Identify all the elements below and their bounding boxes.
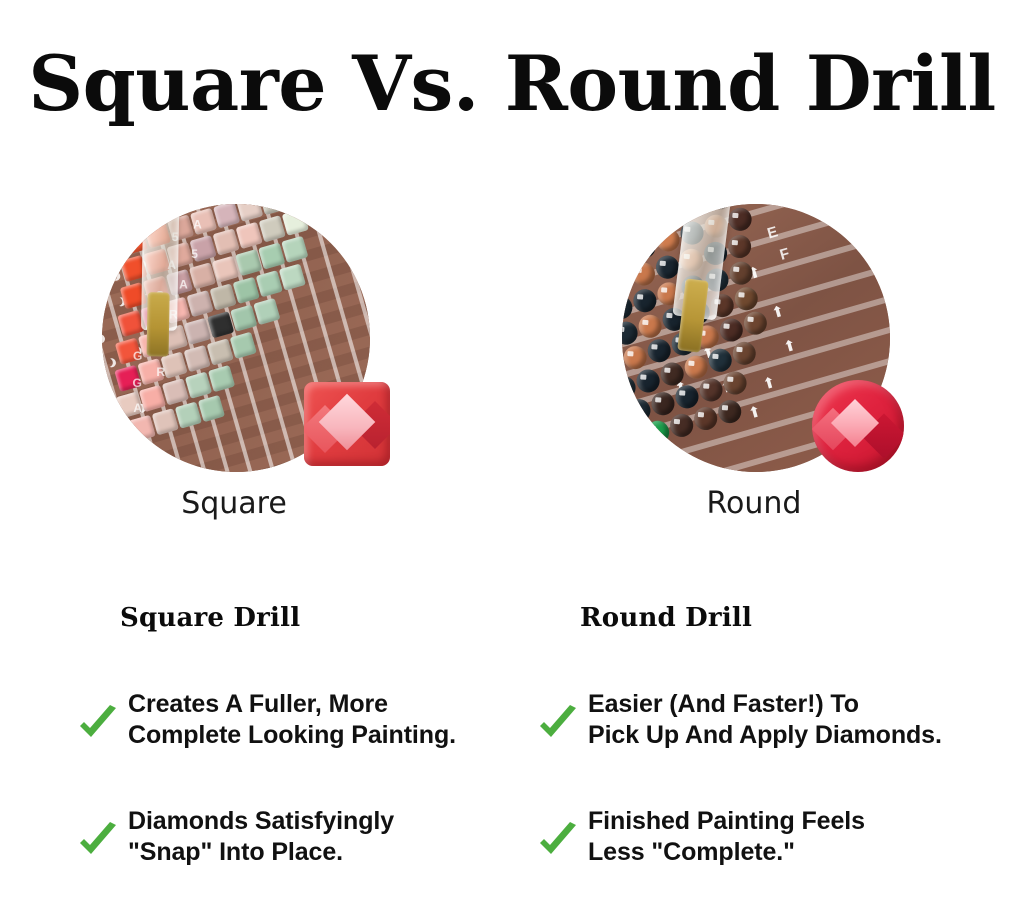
list-item: Easier (And Faster!) To Pick Up And Appl… <box>580 689 1020 752</box>
list-item: Diamonds Satisfyingly "Snap" Into Place. <box>120 806 560 869</box>
square-drill-heading: Square Drill <box>120 604 560 633</box>
round-drill-bullet-list: Easier (And Faster!) To Pick Up And Appl… <box>580 689 1020 869</box>
square-drill-photo-block: 5 A A 5 G A A R G A G R A <box>96 196 426 486</box>
square-drill-bullet-list: Creates A Fuller, More Complete Looking … <box>120 689 560 869</box>
list-item-label: Finished Painting Feels Less "Complete." <box>588 806 865 869</box>
check-icon <box>76 819 120 863</box>
list-item-label: Easier (And Faster!) To Pick Up And Appl… <box>588 689 942 752</box>
page-title: Square Vs. Round Drill <box>0 46 1024 122</box>
list-item-label: Diamonds Satisfyingly "Snap" Into Place. <box>128 806 394 869</box>
round-photo-caption: Round <box>614 486 894 522</box>
square-drill-gem <box>304 382 390 466</box>
check-icon <box>536 819 580 863</box>
round-drill-photo-block: ⬆ ⬆ ⬆ ⬆ ⬆ ⬆ ⬆ ⬆ ⬆ ⬆ ⬆ ⬆ ⬆ ⬆ E F <box>616 196 946 486</box>
list-item: Finished Painting Feels Less "Complete." <box>580 806 1020 869</box>
check-icon <box>536 702 580 746</box>
check-icon <box>76 702 120 746</box>
square-photo-caption: Square <box>94 486 374 522</box>
round-drill-gem <box>812 380 904 472</box>
round-drill-heading: Round Drill <box>580 604 1020 633</box>
list-item: Creates A Fuller, More Complete Looking … <box>120 689 560 752</box>
applicator-pen-square <box>141 204 180 331</box>
pen-wax-tip-square <box>146 292 169 356</box>
square-drill-column: Square Drill Creates A Fuller, More Comp… <box>120 604 560 869</box>
round-drill-column: Round Drill Easier (And Faster!) To Pick… <box>580 604 1020 869</box>
list-item-label: Creates A Fuller, More Complete Looking … <box>128 689 456 752</box>
